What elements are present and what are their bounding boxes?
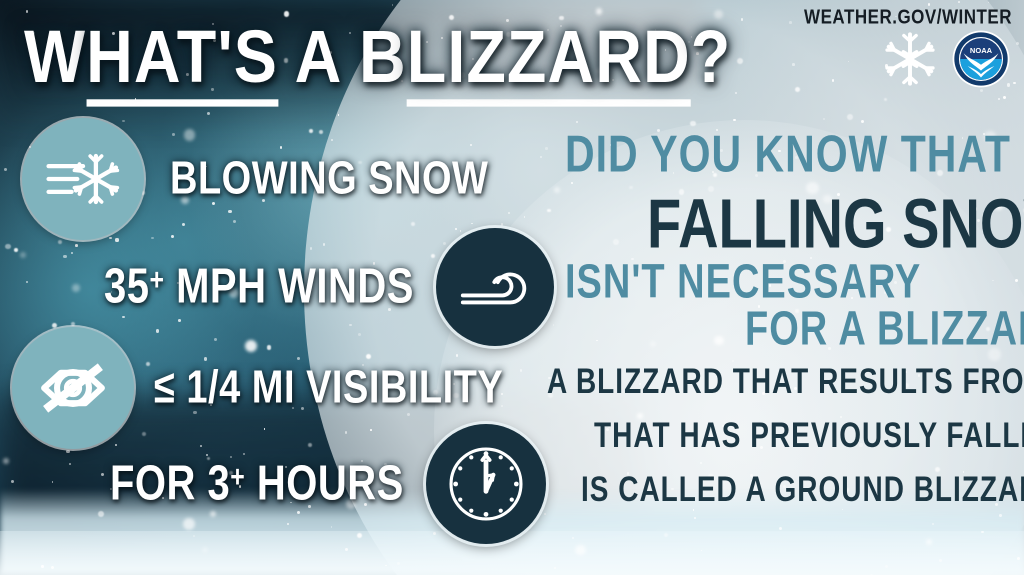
- page-title-question: ?: [691, 15, 732, 98]
- noaa-logo[interactable]: NOAA: [952, 30, 1010, 88]
- duration-plus: +: [230, 461, 245, 494]
- logo-group: NOAA: [882, 30, 1010, 88]
- noaa-logo-text: NOAA: [970, 46, 993, 55]
- criterion-label-wind-speed: 35+ MPH WINDS: [104, 260, 414, 315]
- fact-body-line-1: A BLIZZARD THAT RESULTS FROM SNOW: [547, 362, 1024, 402]
- wind-speed-unit: MPH WINDS: [164, 260, 413, 314]
- duration-unit: HOURS: [245, 457, 404, 511]
- blowing-snow-icon: [40, 143, 126, 215]
- criterion-label-blowing-snow: BLOWING SNOW: [170, 153, 488, 205]
- fact-body-line-3: IS CALLED A GROUND BLIZZARD.: [581, 470, 1024, 510]
- brand-url[interactable]: WEATHER.GOV/WINTER: [804, 6, 1012, 30]
- no-visibility-eye-icon: [27, 350, 119, 426]
- fact-body-line-2: THAT HAS PREVIOUSLY FALLEN: [594, 416, 1024, 456]
- clock-icon-circle: [426, 424, 546, 544]
- blowing-snow-icon-circle: [22, 118, 144, 240]
- page-title-w: W: [24, 15, 86, 98]
- clock-icon: [440, 438, 532, 530]
- page-title-hats: HAT'S: [86, 15, 278, 107]
- criterion-duration: FOR 3+ HOURS: [110, 424, 546, 544]
- page-title: WHAT'S A BLIZZARD?: [24, 20, 731, 94]
- criterion-blowing-snow: BLOWING SNOW: [22, 118, 488, 240]
- page-title-a: A: [278, 15, 359, 98]
- fact-line-falling-snow: FALLING SNOW: [647, 183, 1024, 264]
- wind-speed-plus: +: [150, 264, 165, 297]
- fact-line-for-a-blizzard: FOR A BLIZZARD?: [745, 303, 1024, 357]
- snowflake-icon: [882, 31, 938, 87]
- fact-line-did-you-know: DID YOU KNOW THAT: [565, 125, 1011, 184]
- page-title-lizzard: LIZZARD: [407, 15, 691, 107]
- wind-speed-value: 35: [104, 260, 150, 314]
- criterion-label-duration: FOR 3+ HOURS: [110, 457, 404, 512]
- blizzard-infographic: WHAT'S A BLIZZARD? WEATHER.GOV/WINTER: [0, 0, 1024, 575]
- duration-value: FOR 3: [110, 457, 230, 511]
- criterion-label-visibility: ≤ 1/4 MI VISIBILITY: [154, 362, 503, 414]
- page-title-b: B: [359, 15, 407, 98]
- wind-icon: [452, 252, 538, 322]
